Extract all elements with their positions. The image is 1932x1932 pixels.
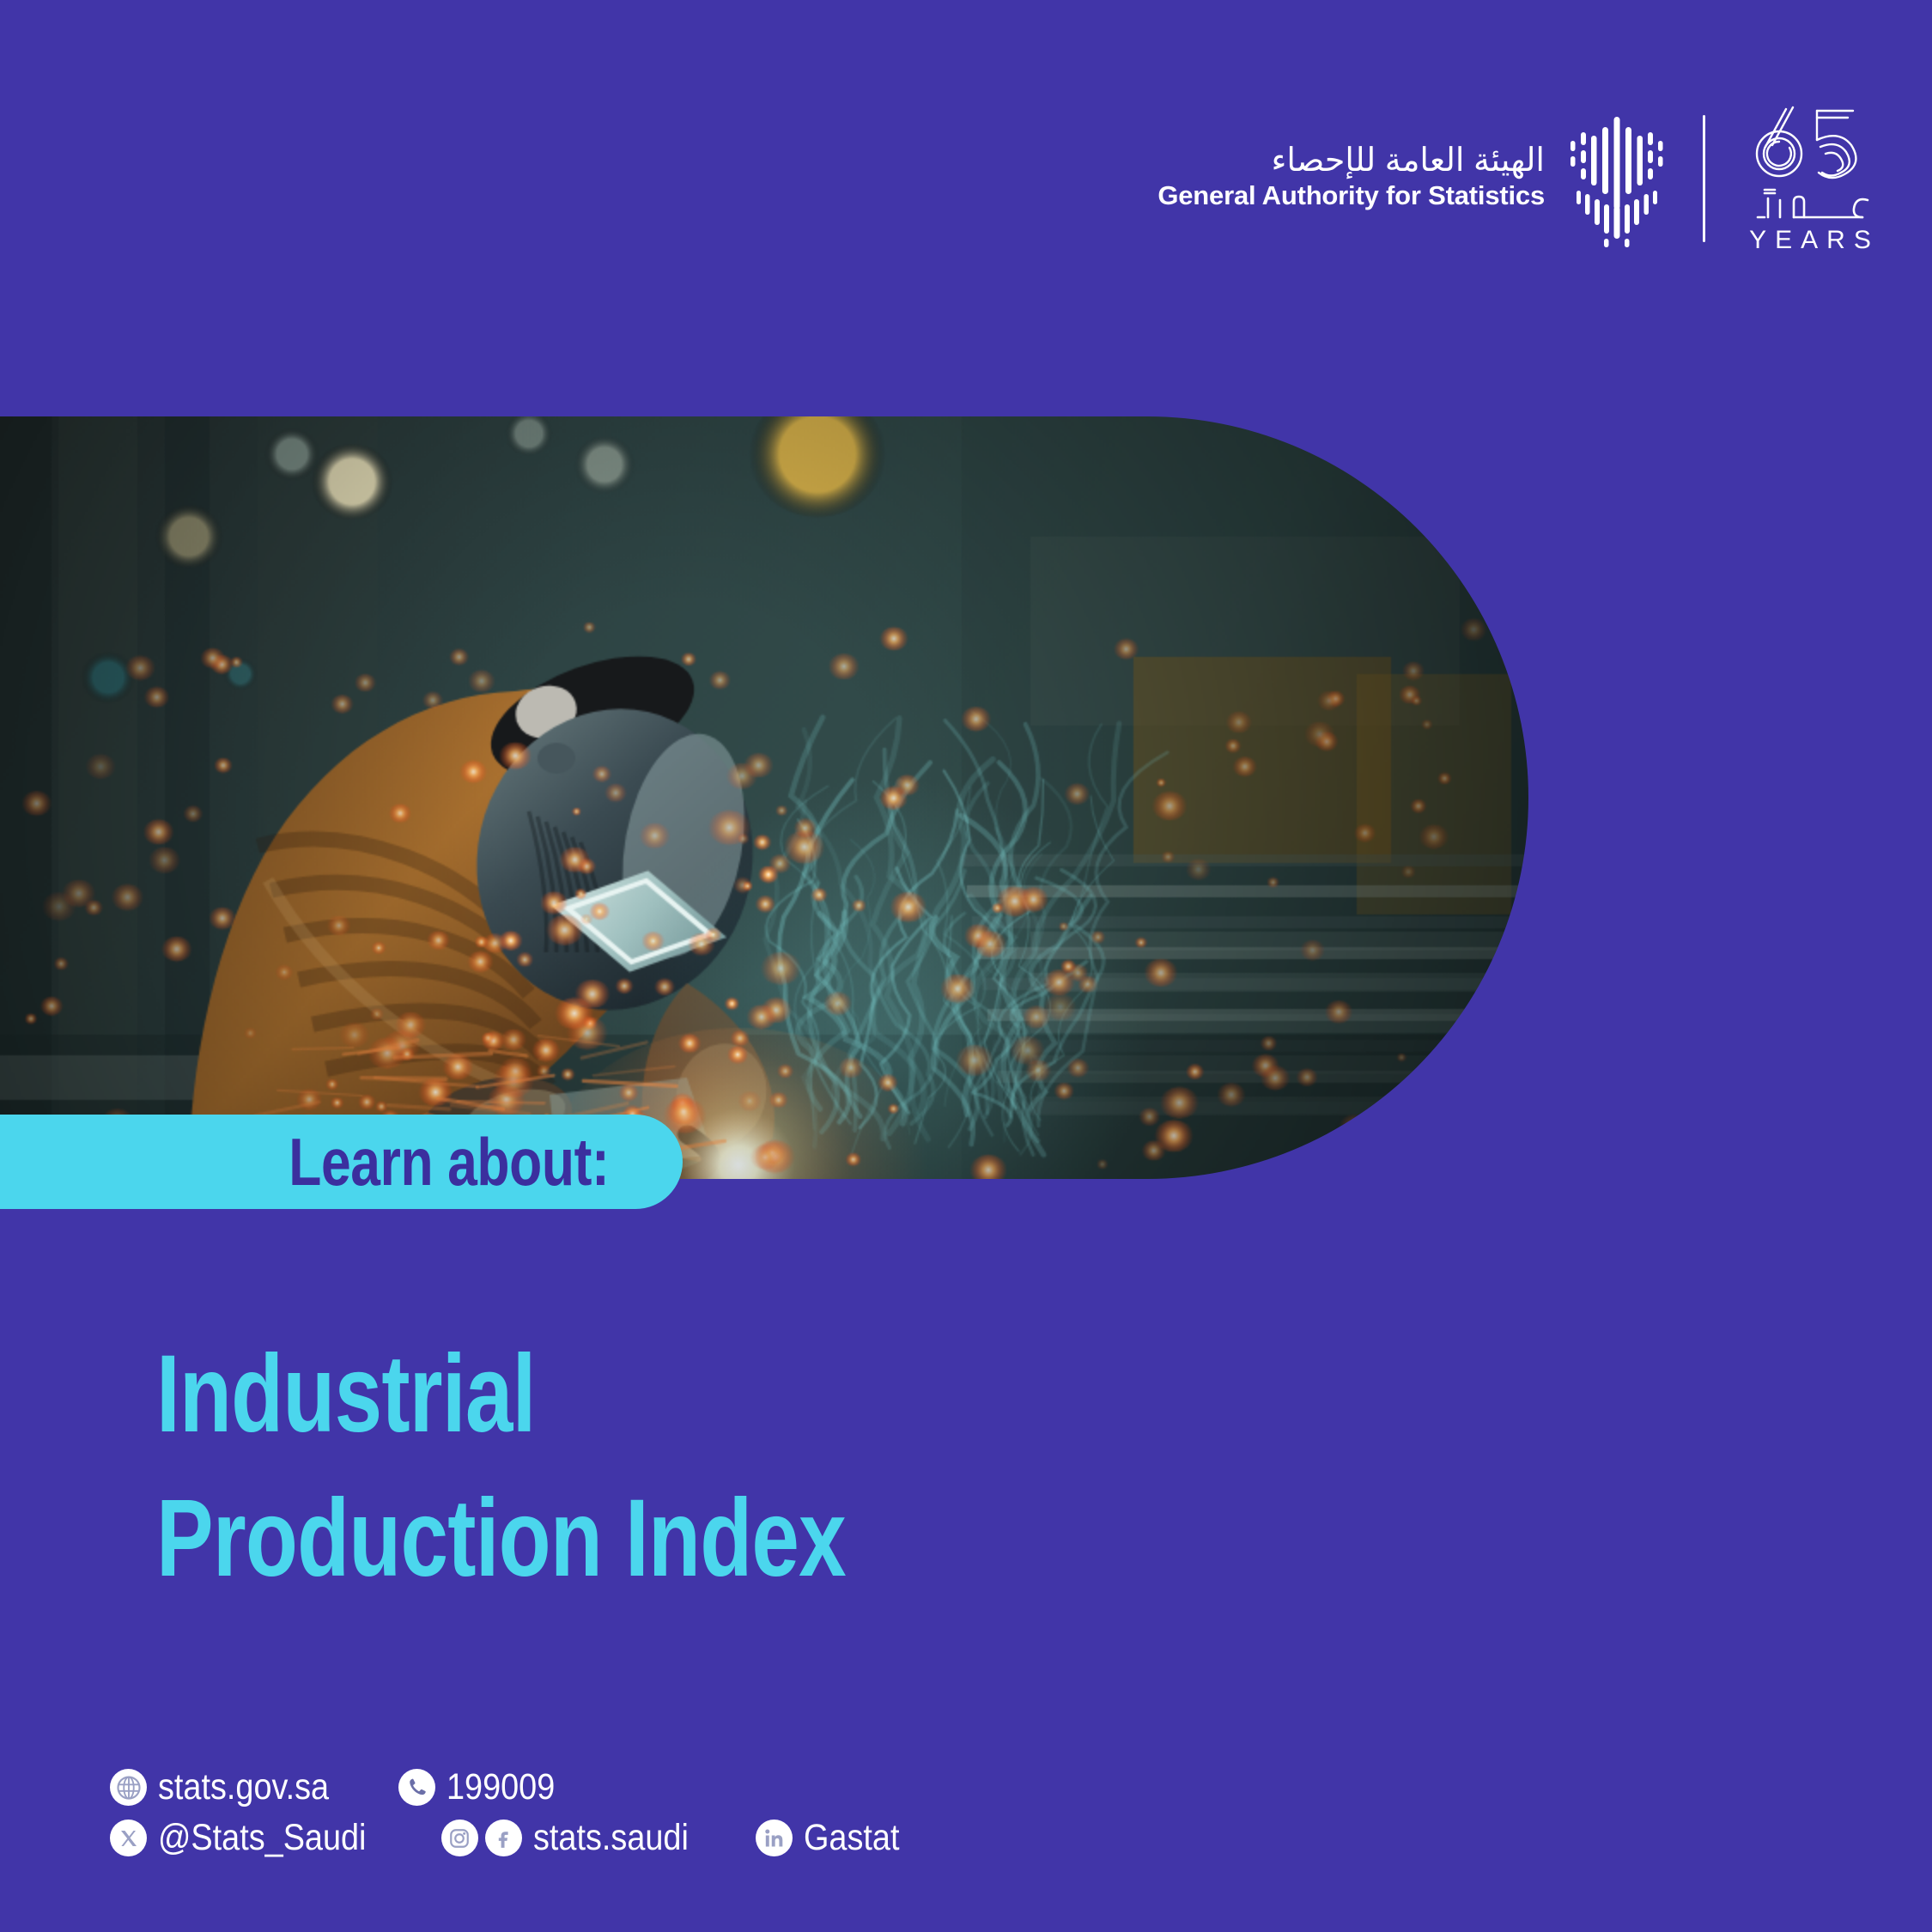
footer-item-website[interactable]: stats.gov.sa	[110, 1769, 352, 1806]
anniversary-label-arabic	[1746, 188, 1874, 224]
gastat-wordmark: الهيئة العامة للإحصاء General Authority …	[1157, 143, 1545, 214]
footer-item-x-twitter[interactable]: @Stats_Saudi	[110, 1820, 395, 1856]
header-logo-bar: الهيئة العامة للإحصاء General Authority …	[1157, 101, 1879, 256]
authority-name-english: General Authority for Statistics	[1157, 180, 1545, 211]
linkedin-label: Gastat	[804, 1820, 899, 1856]
learn-about-badge: Learn about:	[0, 1115, 683, 1209]
footer-icons	[398, 1769, 435, 1806]
social-handle-label: stats.saudi	[533, 1820, 689, 1856]
footer-icons	[441, 1820, 522, 1856]
hero-image	[0, 416, 1528, 1179]
footer-row-1: stats.gov.sa 199009	[110, 1769, 913, 1806]
facebook-icon	[485, 1820, 522, 1856]
page-title: Industrial Production Index	[156, 1322, 1444, 1611]
x-twitter-label: @Stats_Saudi	[158, 1820, 366, 1856]
footer-item-linkedin[interactable]: Gastat	[756, 1820, 913, 1856]
logo-divider	[1703, 115, 1705, 242]
authority-name-arabic: الهيئة العامة للإحصاء	[1272, 143, 1545, 180]
phone-label: 199009	[447, 1769, 555, 1806]
footer-contact-bar: stats.gov.sa 199009	[110, 1769, 913, 1856]
footer-icons	[110, 1820, 147, 1856]
footer-item-phone[interactable]: 199009	[398, 1769, 570, 1806]
welder-photo	[0, 416, 1528, 1179]
footer-row-2: @Stats_Saudi	[110, 1820, 913, 1856]
learn-about-label: Learn about:	[289, 1128, 609, 1195]
page-title-line-2: Production Index	[156, 1467, 1161, 1611]
instagram-icon	[441, 1820, 478, 1856]
anniversary-label-english: YEARS	[1741, 226, 1880, 255]
poster-root: الهيئة العامة للإحصاء General Authority …	[0, 0, 1932, 1932]
gastat-logo-lockup: الهيئة العامة للإحصاء General Authority …	[1157, 110, 1667, 247]
globe-icon	[110, 1769, 147, 1806]
website-label: stats.gov.sa	[158, 1769, 329, 1806]
anniversary-emblem: YEARS	[1741, 102, 1879, 255]
footer-icons	[756, 1820, 793, 1856]
anniversary-65-icon	[1747, 102, 1874, 181]
footer-icons	[110, 1769, 147, 1806]
page-title-line-1: Industrial	[156, 1322, 1161, 1467]
linkedin-icon	[756, 1820, 793, 1856]
phone-icon	[398, 1769, 435, 1806]
footer-item-social-stats-saudi[interactable]: stats.saudi	[441, 1820, 710, 1856]
gastat-palm-logomark	[1567, 110, 1667, 247]
x-twitter-icon	[110, 1820, 147, 1856]
